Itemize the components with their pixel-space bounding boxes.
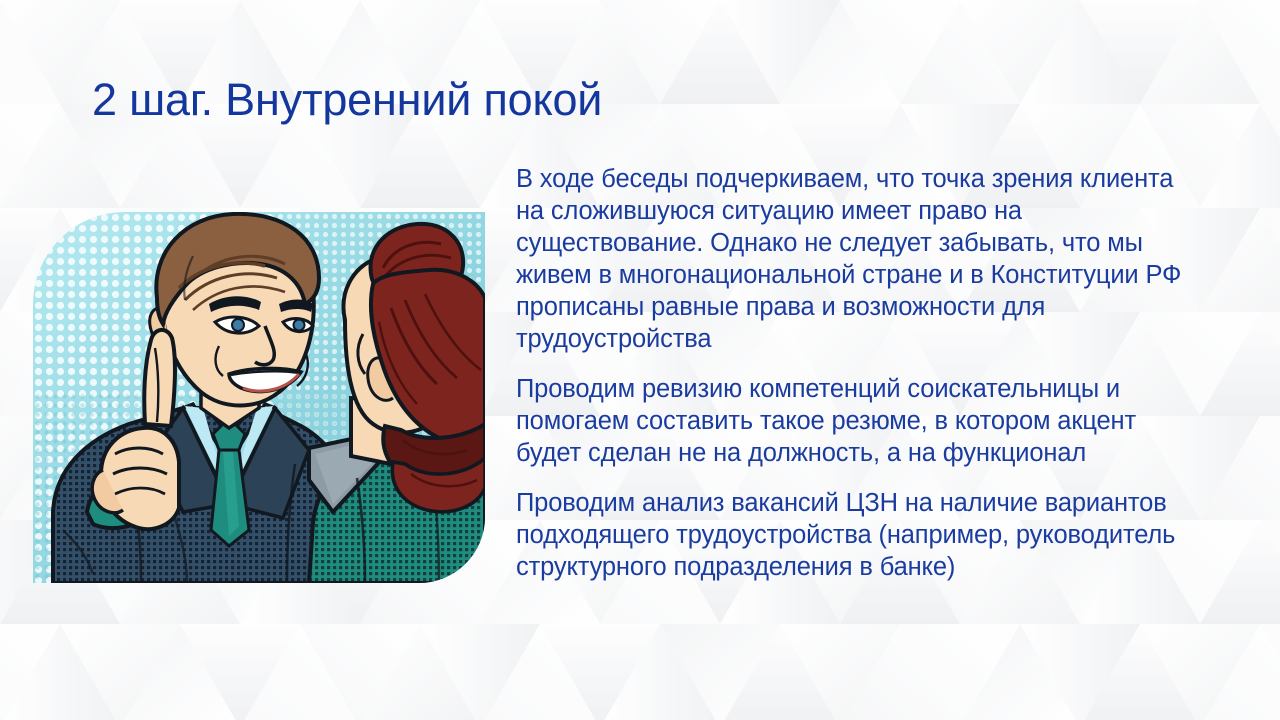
popart-illustration-svg [33,212,485,583]
slide-canvas: 2 шаг. Внутренний покой [0,0,1280,720]
paragraph-1: В ходе беседы подчеркиваем, что точка зр… [516,163,1206,355]
paragraph-2: Проводим ревизию компетенций соискательн… [516,373,1206,469]
popart-illustration [33,212,485,583]
body-text-block: В ходе беседы подчеркиваем, что точка зр… [516,163,1206,583]
paragraph-3: Проводим анализ вакансий ЦЗН на наличие … [516,487,1206,583]
slide-title: 2 шаг. Внутренний покой [92,72,1092,128]
